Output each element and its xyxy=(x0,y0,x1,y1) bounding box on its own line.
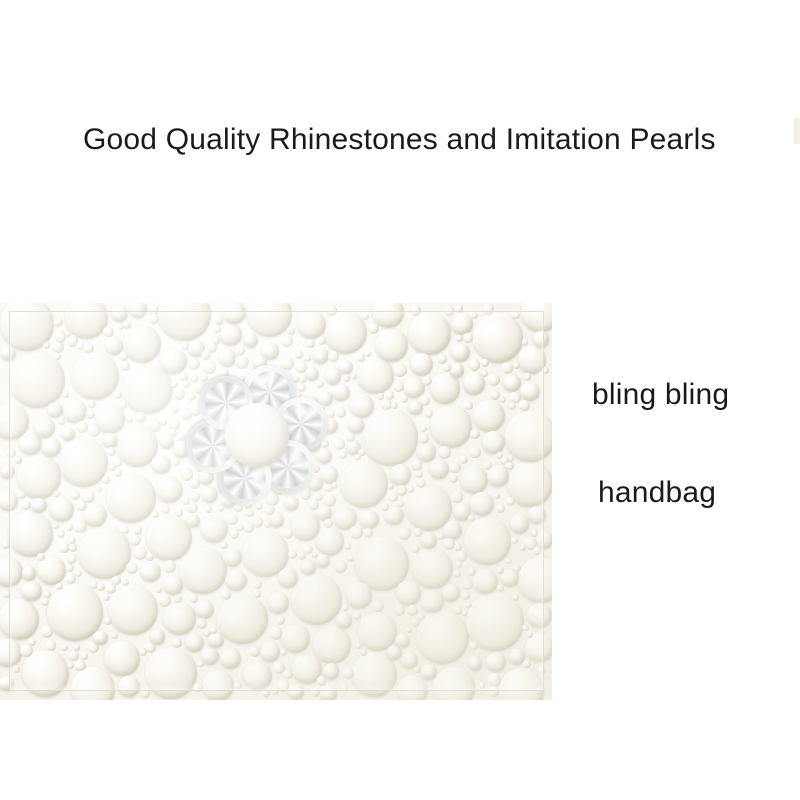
pearl xyxy=(469,359,481,371)
pearl xyxy=(357,357,394,394)
pearl xyxy=(107,447,116,456)
pearl xyxy=(65,573,76,584)
pearl xyxy=(324,519,333,528)
pearl xyxy=(102,433,117,448)
pearl xyxy=(499,668,544,700)
pearl xyxy=(163,576,183,596)
pearl xyxy=(518,557,552,603)
pearl xyxy=(158,594,171,607)
pearl xyxy=(459,455,468,464)
pearl xyxy=(74,644,81,651)
pearl xyxy=(513,362,520,369)
pearl xyxy=(350,394,374,418)
pearl xyxy=(481,370,488,377)
pearl xyxy=(372,600,384,612)
pearl xyxy=(306,339,315,348)
pearl xyxy=(71,667,115,700)
pearl xyxy=(83,503,107,527)
pearl xyxy=(283,670,293,680)
pearl xyxy=(118,676,139,697)
pearl xyxy=(346,582,372,608)
pearl xyxy=(8,511,54,557)
pearl xyxy=(168,429,176,437)
pearl xyxy=(120,402,127,409)
pearl xyxy=(524,373,531,380)
pearl xyxy=(528,506,546,524)
pearl xyxy=(54,353,61,360)
pearl xyxy=(496,504,505,513)
pearl xyxy=(96,486,103,493)
pearl xyxy=(400,395,408,403)
pearl xyxy=(464,517,512,565)
pearl xyxy=(527,603,552,628)
pearl xyxy=(226,514,238,526)
pearl xyxy=(332,384,349,401)
pearl xyxy=(215,316,224,325)
pearl xyxy=(217,594,267,644)
pearl xyxy=(22,650,69,697)
pearl xyxy=(102,476,110,484)
pearl xyxy=(469,642,477,650)
pearl xyxy=(62,391,69,398)
pearl xyxy=(470,429,479,438)
pearl xyxy=(146,552,155,561)
pearl xyxy=(119,352,127,360)
pearl xyxy=(264,505,274,515)
pearl xyxy=(536,531,552,548)
pearl xyxy=(320,685,337,700)
pearl xyxy=(422,376,432,386)
pearl xyxy=(21,501,30,510)
pearl xyxy=(283,528,294,539)
pearl xyxy=(141,689,150,698)
pearl xyxy=(68,650,79,661)
pearl xyxy=(171,381,178,388)
pearl xyxy=(396,580,422,606)
pearl xyxy=(297,383,307,393)
pearl xyxy=(385,390,395,400)
pearl xyxy=(158,303,211,341)
pearl xyxy=(201,486,218,503)
pearl xyxy=(41,625,53,637)
pearl xyxy=(186,514,200,528)
pearl xyxy=(346,433,355,442)
pearl xyxy=(450,363,464,377)
pearl xyxy=(503,374,521,392)
pearl xyxy=(111,632,118,639)
pearl xyxy=(112,576,120,584)
pearl xyxy=(2,541,10,549)
pearl xyxy=(65,303,108,339)
pearl xyxy=(254,590,262,598)
pearl xyxy=(66,564,74,572)
pearl xyxy=(173,459,180,466)
pearl xyxy=(328,351,339,362)
pearl xyxy=(262,690,270,698)
pearl xyxy=(342,604,350,612)
pearl xyxy=(69,543,77,551)
caption-bling-bling: bling bling xyxy=(592,377,729,413)
pearl xyxy=(103,327,113,337)
pearl xyxy=(394,604,406,616)
pearl xyxy=(56,583,63,590)
pearl xyxy=(470,492,494,516)
pearl xyxy=(469,447,481,459)
pearl xyxy=(343,374,351,382)
pearl xyxy=(201,350,211,360)
pearl xyxy=(66,524,73,531)
pearl xyxy=(497,584,505,592)
pearl xyxy=(533,547,541,555)
pearl xyxy=(430,405,472,447)
pearl xyxy=(387,492,398,503)
pearl xyxy=(494,493,501,500)
pearl xyxy=(235,355,249,369)
pearl xyxy=(360,649,366,655)
pearl xyxy=(336,407,347,418)
pearl xyxy=(357,353,365,361)
pearl xyxy=(214,326,221,333)
pearl xyxy=(281,624,310,653)
pearl xyxy=(180,467,194,481)
pearl xyxy=(187,392,196,401)
pearl xyxy=(344,543,351,550)
pearl xyxy=(208,633,223,648)
pearl xyxy=(14,455,22,463)
pearl xyxy=(52,341,64,353)
pearl xyxy=(519,400,530,411)
pearl xyxy=(174,388,185,399)
pearl xyxy=(342,684,349,691)
pearl xyxy=(288,684,304,700)
pearl xyxy=(111,305,128,322)
pearl xyxy=(178,434,185,441)
pearl xyxy=(449,474,459,484)
pearl xyxy=(276,615,285,624)
pearl xyxy=(523,660,532,669)
pearl xyxy=(163,560,176,573)
pearl xyxy=(451,343,470,362)
pearl xyxy=(496,452,503,459)
pearl xyxy=(291,574,342,625)
pearl xyxy=(195,600,214,619)
pearl xyxy=(454,543,462,551)
pearl xyxy=(443,521,462,540)
pearl xyxy=(298,551,307,560)
pearl xyxy=(9,352,66,409)
pearl xyxy=(68,537,76,545)
pearl xyxy=(299,375,307,383)
pearl xyxy=(58,419,64,425)
pearl xyxy=(41,437,61,457)
pearl xyxy=(377,393,385,401)
pearl xyxy=(196,618,207,629)
pearl xyxy=(1,346,16,361)
pearl xyxy=(522,339,529,346)
pearl xyxy=(160,435,174,449)
pearl xyxy=(456,551,467,562)
pearl xyxy=(414,666,421,673)
pearl xyxy=(254,580,263,589)
pearl xyxy=(34,417,55,438)
pearl xyxy=(260,642,280,662)
pearl xyxy=(197,661,203,667)
pearl xyxy=(411,544,420,553)
pearl xyxy=(444,306,454,316)
pearl xyxy=(193,683,203,693)
pearl xyxy=(150,629,165,644)
pearl xyxy=(67,662,74,669)
pearl xyxy=(332,482,339,489)
pearl xyxy=(185,634,204,653)
pearl xyxy=(316,527,345,556)
pearl xyxy=(267,592,289,614)
pearl xyxy=(488,686,499,697)
pearl xyxy=(0,599,39,640)
pearl xyxy=(339,451,347,459)
pearl xyxy=(175,508,184,517)
pearl xyxy=(415,470,423,478)
pearl xyxy=(420,426,427,433)
pearl xyxy=(295,350,303,358)
pearl xyxy=(460,466,488,494)
pearl xyxy=(421,664,437,680)
pearl xyxy=(133,525,142,534)
pearl xyxy=(310,687,320,697)
pearl xyxy=(506,497,515,506)
pearl xyxy=(43,342,49,348)
pearl xyxy=(419,433,429,443)
pearl xyxy=(525,634,552,663)
pearl xyxy=(393,381,404,392)
pearl xyxy=(511,537,518,544)
pearl xyxy=(47,402,63,418)
pearl xyxy=(438,446,451,459)
pearl xyxy=(205,505,213,513)
pearl xyxy=(62,399,86,423)
pearl xyxy=(156,587,162,593)
pearl xyxy=(437,354,447,364)
pearl xyxy=(538,667,545,674)
pearl xyxy=(93,631,107,645)
pearl xyxy=(487,673,500,686)
pearl xyxy=(223,548,242,567)
pearl xyxy=(350,374,356,380)
pearl xyxy=(397,500,404,507)
pearl xyxy=(442,584,460,602)
pearl xyxy=(151,455,170,474)
pearl xyxy=(17,491,25,499)
pearl xyxy=(250,646,260,656)
pearl xyxy=(359,510,378,529)
pearl xyxy=(312,347,330,365)
pearl xyxy=(162,505,171,514)
pearl xyxy=(81,652,89,660)
pearl xyxy=(120,361,130,371)
pearl xyxy=(461,610,468,617)
pearl xyxy=(129,534,141,546)
pearl xyxy=(52,523,58,529)
pearl xyxy=(362,313,369,320)
pearl xyxy=(365,351,372,358)
pearl xyxy=(349,526,363,540)
pearl xyxy=(31,498,46,513)
pearl-texture xyxy=(0,303,552,700)
pearl xyxy=(355,642,362,649)
pearl xyxy=(512,594,519,601)
pearl xyxy=(187,357,200,370)
pearl xyxy=(505,462,513,470)
pearl xyxy=(129,303,147,318)
pearl xyxy=(508,402,516,410)
pearl xyxy=(333,438,345,450)
pearl xyxy=(75,570,82,577)
pearl xyxy=(353,612,362,621)
pearl xyxy=(123,325,161,363)
pearl xyxy=(429,459,449,479)
pearl xyxy=(179,547,226,594)
pearl xyxy=(449,462,460,473)
pearl xyxy=(172,406,179,413)
pearl xyxy=(305,367,319,381)
pearl xyxy=(488,374,501,387)
pearl xyxy=(106,473,156,523)
pearl xyxy=(202,670,234,701)
pearl xyxy=(133,546,147,560)
pearl xyxy=(212,336,220,344)
pearl xyxy=(104,641,140,677)
pearl xyxy=(303,355,310,362)
pearl xyxy=(87,400,96,409)
pearl xyxy=(461,591,470,600)
pearl xyxy=(510,514,530,534)
pearl xyxy=(218,349,236,367)
cluster-center-pearl xyxy=(225,403,289,467)
pearl xyxy=(455,305,463,313)
pearl xyxy=(410,353,433,376)
pearl xyxy=(321,466,338,483)
pearl xyxy=(218,505,225,512)
product-photo xyxy=(0,303,552,700)
pearl xyxy=(28,638,36,646)
pearl xyxy=(443,364,451,372)
pearl xyxy=(108,585,158,635)
pearl xyxy=(61,427,75,441)
pearl xyxy=(182,380,190,388)
pearl xyxy=(264,521,271,528)
pearl xyxy=(390,464,411,485)
pearl xyxy=(0,464,15,480)
pearl xyxy=(220,542,227,549)
pearl xyxy=(287,327,295,335)
pearl xyxy=(542,367,549,374)
pearl xyxy=(114,459,122,467)
pearl xyxy=(135,412,146,423)
pearl xyxy=(37,553,44,560)
pearl xyxy=(140,561,162,583)
pearl xyxy=(533,331,549,347)
pearl xyxy=(407,605,418,616)
pearl xyxy=(456,561,462,567)
pearl xyxy=(53,317,63,327)
pearl xyxy=(0,491,18,511)
pearl xyxy=(271,687,279,695)
pearl xyxy=(114,390,123,399)
pearl xyxy=(278,568,297,587)
page-title: Good Quality Rhinestones and Imitation P… xyxy=(83,122,716,158)
pearl xyxy=(497,566,504,573)
pearl xyxy=(526,631,533,638)
pearl xyxy=(59,438,108,487)
pearl xyxy=(220,648,241,669)
pearl xyxy=(73,520,87,534)
pearl xyxy=(451,491,462,502)
pearl xyxy=(53,491,59,497)
pearl xyxy=(70,490,80,500)
pearl xyxy=(473,400,505,432)
pearl xyxy=(470,311,478,319)
pearl xyxy=(406,627,413,634)
pearl xyxy=(172,638,182,648)
pearl xyxy=(391,402,398,409)
pearl xyxy=(456,335,463,342)
pearl xyxy=(288,550,297,559)
pearl xyxy=(454,606,462,614)
pearl xyxy=(513,564,521,572)
pearl xyxy=(76,501,86,511)
pearl xyxy=(57,530,65,538)
pearl xyxy=(473,313,523,363)
pearl xyxy=(71,352,119,400)
pearl xyxy=(347,555,354,562)
pearl xyxy=(121,527,128,534)
pearl xyxy=(418,613,425,620)
pearl xyxy=(300,489,310,499)
pearl xyxy=(502,362,514,374)
pearl xyxy=(416,478,426,488)
pearl xyxy=(3,591,11,599)
pearl xyxy=(316,380,324,388)
pearl xyxy=(511,311,519,319)
pearl xyxy=(522,625,529,632)
pearl xyxy=(234,682,241,689)
pearl xyxy=(41,598,49,606)
pearl xyxy=(156,476,183,503)
pearl xyxy=(363,528,373,538)
pearl xyxy=(301,560,316,575)
pearl xyxy=(163,602,196,635)
pearl xyxy=(348,417,364,433)
pearl xyxy=(0,557,23,587)
pearl xyxy=(88,425,100,437)
pearl xyxy=(316,448,332,464)
pearl xyxy=(482,431,505,454)
pearl xyxy=(467,568,475,576)
pearl xyxy=(104,617,112,625)
pearl xyxy=(463,401,472,410)
pearl xyxy=(74,660,85,671)
pearl xyxy=(243,333,258,348)
pearl xyxy=(318,336,326,344)
pearl xyxy=(368,323,379,334)
pearl xyxy=(126,416,133,423)
pearl xyxy=(473,569,499,595)
pearl xyxy=(49,497,74,522)
pearl xyxy=(0,676,14,691)
pearl xyxy=(97,583,105,591)
pearl xyxy=(324,311,367,354)
pearl xyxy=(325,368,342,385)
